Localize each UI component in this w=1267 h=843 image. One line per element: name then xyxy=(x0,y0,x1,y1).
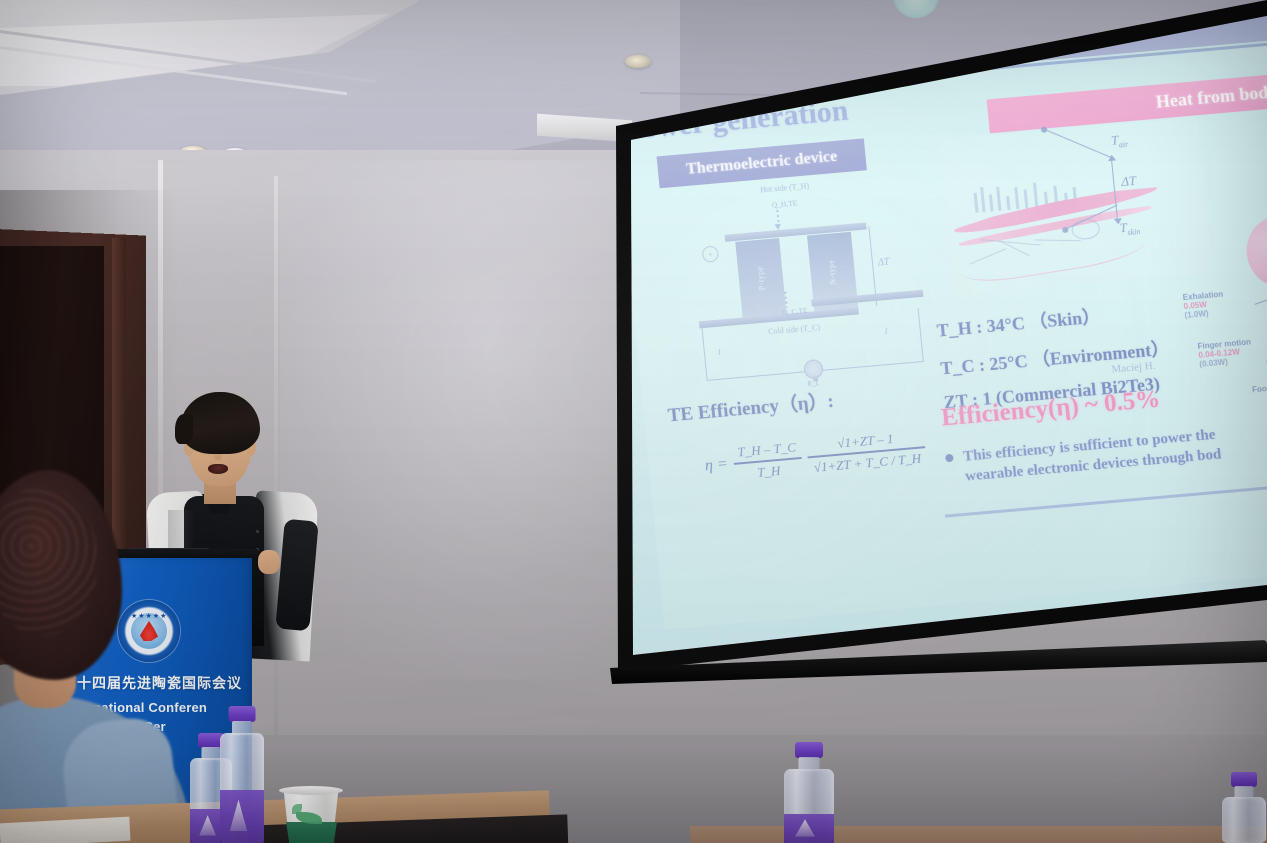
te-efficiency-heading: TE Efficiency（η）: xyxy=(666,386,834,427)
paper-cup-band xyxy=(285,822,338,843)
bottle-cap xyxy=(229,706,256,722)
formula-eta: η = xyxy=(704,455,728,475)
te-delta-t-label: ΔT xyxy=(877,257,889,269)
bottle-body xyxy=(1222,797,1266,843)
te-polarity-marker: + xyxy=(702,245,720,262)
te-cold-flow-dots xyxy=(784,292,787,308)
harvest-leader-line xyxy=(1255,285,1267,305)
bottle-cap xyxy=(795,742,823,758)
label-t-air: Tair xyxy=(1110,131,1128,150)
bottle-cap xyxy=(1231,772,1257,787)
water-bottle xyxy=(1216,772,1267,843)
screen-surface: Power generation by body tempe Power gen… xyxy=(604,0,1267,690)
thermoelectric-device-diagram: Hot side (T_H) Q_H,TE P-type N-type + ΔT xyxy=(684,171,948,391)
te-leg-p-label: P-type xyxy=(755,266,766,291)
skin-cross-section-figure: Tair Tskin ΔT xyxy=(940,117,1212,295)
formula-fraction-2: √1+ZT – 1 √1+ZT + T_C / T_H xyxy=(806,429,927,476)
formula-denominator-1: T_H xyxy=(752,462,787,481)
body-figure-head xyxy=(1243,214,1267,289)
bottle-label xyxy=(784,814,834,843)
te-hot-side-label: Hot side (T_H) xyxy=(760,181,810,194)
conference-photo-scene: Power generation by body tempe Power gen… xyxy=(0,0,1267,843)
projection-screen: Power generation by body tempe Power gen… xyxy=(604,0,1267,690)
te-current-label-left: I xyxy=(718,348,722,357)
harvest-name: Footfall xyxy=(1252,383,1267,394)
presenter-mouth xyxy=(208,464,228,474)
presentation-slide: Power generation by body tempe Power gen… xyxy=(614,53,1267,630)
water-bottle xyxy=(214,706,270,843)
arrow-up-icon xyxy=(1108,154,1117,161)
table-right-section xyxy=(690,826,1267,843)
audience-member xyxy=(0,470,180,843)
te-leg-n-label: N-type xyxy=(827,259,838,285)
bullet-dot-icon xyxy=(945,454,954,463)
formula-denominator-2: √1+ZT + T_C / T_H xyxy=(808,450,927,476)
te-current-label-right: I xyxy=(884,327,888,336)
te-q-hot-label: Q_H,TE xyxy=(771,198,797,209)
audience-hair xyxy=(0,470,122,680)
tag-left-label: Thermoelectric device xyxy=(685,148,838,179)
label-delta-t: ΔT xyxy=(1120,173,1136,190)
water-bottle xyxy=(778,742,840,843)
te-efficiency-formula: η = T_H – T_C T_H √1+ZT – 1 √1+ZT + T_C … xyxy=(702,414,957,497)
label-t-skin: Tskin xyxy=(1119,219,1141,238)
harvest-item-footfall: Footfall xyxy=(1252,383,1267,394)
formula-fraction-1: T_H – T_C T_H xyxy=(732,439,804,482)
bottle-label xyxy=(220,790,264,843)
te-leg-p-type: P-type xyxy=(735,238,786,317)
presenter-hand xyxy=(258,550,280,574)
paper-cup-rim xyxy=(279,786,343,795)
presenter-hair xyxy=(180,392,260,454)
tag-right-label: Heat from body xyxy=(1155,80,1267,112)
